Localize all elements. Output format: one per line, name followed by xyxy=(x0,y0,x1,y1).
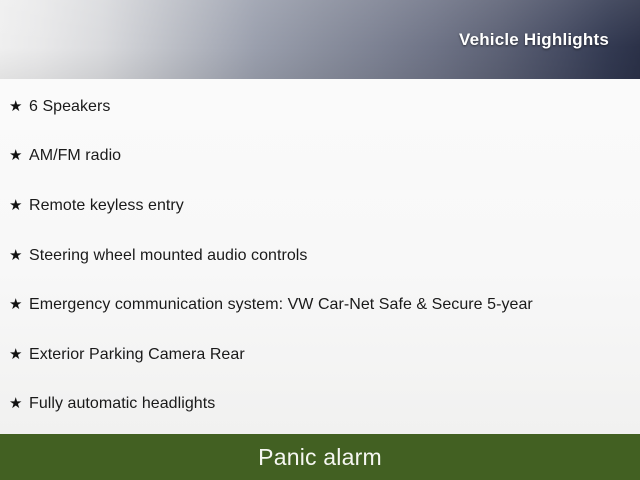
star-icon: ★ xyxy=(9,196,29,216)
list-item: ★ Steering wheel mounted audio controls xyxy=(9,245,307,267)
list-item: ★ Fully automatic headlights xyxy=(9,393,215,415)
star-icon: ★ xyxy=(9,345,29,365)
list-item-label: Exterior Parking Camera Rear xyxy=(29,345,245,365)
list-item: ★ Remote keyless entry xyxy=(9,195,184,217)
vehicle-highlights-list: ★ 6 Speakers ★ AM/FM radio ★ Remote keyl… xyxy=(0,79,640,434)
footer-highlight-bar: Panic alarm xyxy=(0,434,640,480)
list-item-label: Remote keyless entry xyxy=(29,196,184,216)
list-item-label: Fully automatic headlights xyxy=(29,394,215,414)
star-icon: ★ xyxy=(9,97,29,117)
panel-header: Vehicle Highlights xyxy=(0,0,640,79)
star-icon: ★ xyxy=(9,295,29,315)
star-icon: ★ xyxy=(9,246,29,266)
list-item-label: AM/FM radio xyxy=(29,146,121,166)
list-item-label: 6 Speakers xyxy=(29,97,110,117)
list-item: ★ Exterior Parking Camera Rear xyxy=(9,344,245,366)
vehicle-highlights-panel: Vehicle Highlights ★ 6 Speakers ★ AM/FM … xyxy=(0,0,640,480)
list-item: ★ 6 Speakers xyxy=(9,96,110,118)
list-item: ★ Emergency communication system: VW Car… xyxy=(9,294,533,316)
footer-highlight-label: Panic alarm xyxy=(258,444,382,471)
list-item: ★ AM/FM radio xyxy=(9,145,121,167)
star-icon: ★ xyxy=(9,394,29,414)
list-item-label: Emergency communication system: VW Car-N… xyxy=(29,295,533,315)
page-title: Vehicle Highlights xyxy=(459,30,609,50)
star-icon: ★ xyxy=(9,146,29,166)
list-item-label: Steering wheel mounted audio controls xyxy=(29,246,307,266)
